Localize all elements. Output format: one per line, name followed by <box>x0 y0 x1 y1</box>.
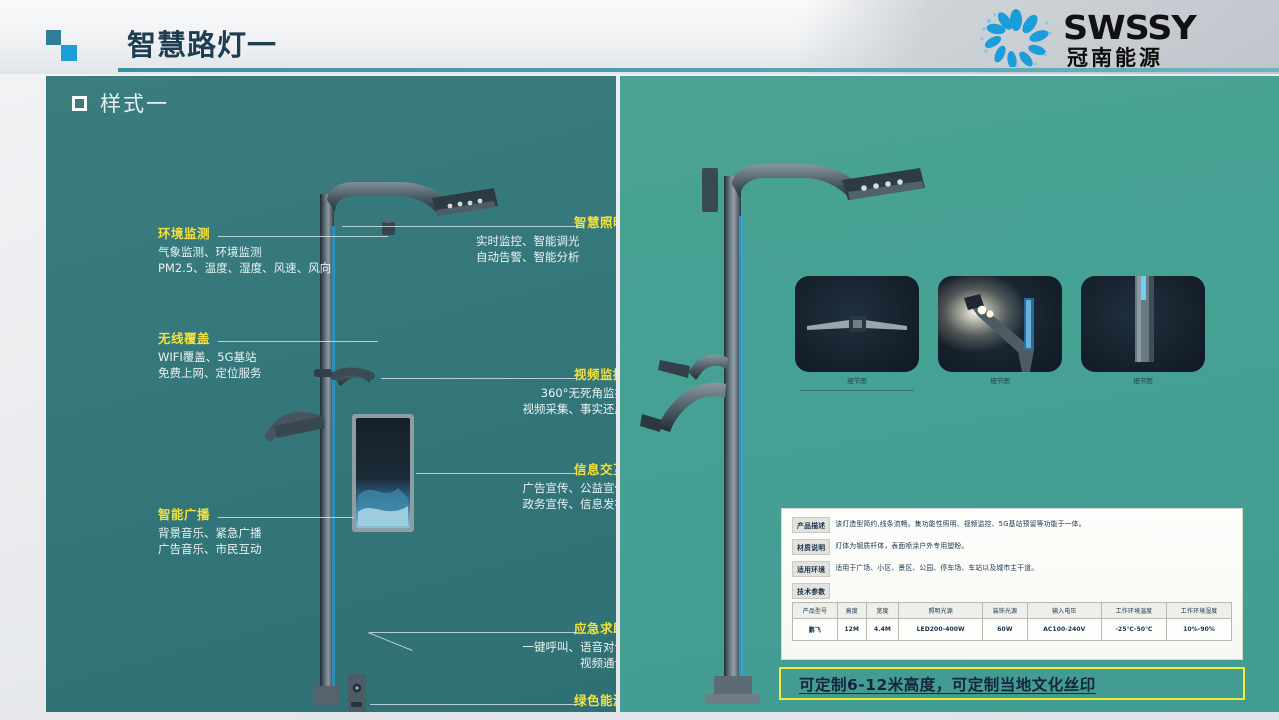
leader-line <box>381 378 577 379</box>
table-cell: 鹏飞 <box>793 619 838 641</box>
spec-label: 适用环境 <box>792 561 830 577</box>
leader-line <box>218 236 388 237</box>
annotation-line: 自动告警、智能分析 <box>476 249 616 265</box>
annotation-line: 视频采集、事实还原 <box>471 401 616 417</box>
thumbnail-caption-2: 细节图 <box>938 375 1062 385</box>
table-row: 鹏飞 12M 4.4M LED200-400W 60W AC100-240V -… <box>793 619 1232 641</box>
spec-row: 适用环境 适用于广场、小区、景区、公园、停车场、车站以及城市主干道。 <box>792 561 1232 577</box>
spec-text: 灯体为钢质杆体，表面喷涂户外专用塑粉。 <box>835 539 968 552</box>
technical-parameters-table: 产品型号 高度 宽度 照明光源 装饰光源 输入电压 工作环境温度 工作环境湿度 … <box>792 602 1232 641</box>
table-header-cell: 宽度 <box>866 603 899 619</box>
annotation-line: PM2.5、温度、湿度、风速、风向 <box>158 260 331 276</box>
spec-row: 材质说明 灯体为钢质杆体，表面喷涂户外专用塑粉。 <box>792 539 1232 555</box>
table-header-cell: 工作环境湿度 <box>1167 603 1232 619</box>
thumbnail-caption-1: 细节图 <box>795 375 919 385</box>
table-header-row: 产品型号 高度 宽度 照明光源 装饰光源 输入电压 工作环境温度 工作环境湿度 <box>793 603 1232 619</box>
annotation-heading: 信息交互 <box>471 459 616 478</box>
water-droplet-flower-icon <box>977 9 1055 67</box>
title-squares-icon <box>46 30 82 62</box>
table-cell: LED200-400W <box>899 619 983 641</box>
annotation-line: WIFI覆盖、5G基站 <box>158 349 262 365</box>
right-content-panel: 细节图 细节图 细节图 <box>620 76 1279 712</box>
annotation-line: 一键呼叫、语音对讲 <box>471 639 616 655</box>
lamp-arm-detail-icon <box>795 276 919 372</box>
thumbnail-caption-underline <box>800 390 914 391</box>
leader-line <box>218 341 378 342</box>
table-cell: -25℃-50℃ <box>1101 619 1166 641</box>
spec-text: 适用于广场、小区、景区、公园、停车场、车站以及城市主干道。 <box>835 561 1038 574</box>
annotation-heading: 智慧照明 <box>476 212 616 231</box>
annotation-heading: 视频监控 <box>471 364 616 383</box>
annotation-smart-broadcast: 智能广播 背景音乐、紧急广播 广告音乐、市民互动 <box>158 504 262 557</box>
annotation-line: 广告音乐、市民互动 <box>158 541 262 557</box>
thumbnail-detail-2[interactable] <box>938 276 1062 372</box>
title-square-dark-icon <box>46 30 61 45</box>
annotation-line: 汽车充电 <box>471 711 616 712</box>
annotation-environment-monitoring: 环境监测 气象监测、环境监测 PM2.5、温度、湿度、风速、风向 <box>158 223 331 276</box>
annotation-emergency-help: 应急求助 一键呼叫、语音对讲 视频通话 <box>471 618 616 671</box>
annotation-heading: 智能广播 <box>158 504 262 523</box>
customization-banner: 可定制6-12米高度，可定制当地文化丝印 <box>779 667 1245 700</box>
thumbnail-detail-1[interactable] <box>795 276 919 372</box>
table-header-cell: 产品型号 <box>793 603 838 619</box>
table-cell: AC100-240V <box>1027 619 1101 641</box>
annotation-line: 广告宣传、公益宣传 <box>471 480 616 496</box>
thumbnail-detail-3[interactable] <box>1081 276 1205 372</box>
leader-line <box>416 473 577 474</box>
table-cell: 12M <box>837 619 866 641</box>
annotation-line: 免费上网、定位服务 <box>158 365 262 381</box>
annotation-video-surveillance: 视频监控 360°无死角监控 视频采集、事实还原 <box>471 364 616 417</box>
spec-label: 材质说明 <box>792 539 830 555</box>
spec-label: 技术参数 <box>792 583 830 599</box>
left-content-panel: 样式一 <box>46 76 616 712</box>
leader-line <box>218 517 354 518</box>
customization-banner-text: 可定制6-12米高度，可定制当地文化丝印 <box>799 673 1096 695</box>
spec-row: 技术参数 <box>792 583 1232 599</box>
annotation-line: 实时监控、智能调光 <box>476 233 616 249</box>
lamp-head-lit-detail-icon <box>938 276 1062 372</box>
spec-text: 该灯造型简约,线条流畅。集功能性照明、视频监控、5G基站预留等功能于一体。 <box>835 517 1085 530</box>
page-header: 智慧路灯一 SWSSY <box>0 0 1279 74</box>
thumbnail-caption-3: 细节图 <box>1081 375 1205 385</box>
annotation-line: 360°无死角监控 <box>471 385 616 401</box>
annotation-heading: 绿色能源 <box>471 690 616 709</box>
annotation-information-interaction: 信息交互 广告宣传、公益宣传 政务宣传、信息发布 <box>471 459 616 512</box>
table-header-cell: 装饰光源 <box>983 603 1028 619</box>
annotation-green-energy: 绿色能源 汽车充电 手机充电 <box>471 690 616 712</box>
annotation-smart-lighting: 智慧照明 实时监控、智能调光 自动告警、智能分析 <box>476 212 616 265</box>
page-title: 智慧路灯一 <box>127 22 277 64</box>
brand-subtitle: 冠南能源 <box>1067 42 1163 72</box>
brand-logo: SWSSY 冠南能源 <box>963 5 1263 71</box>
table-cell: 10%-90% <box>1167 619 1232 641</box>
title-square-blue-icon <box>61 45 77 61</box>
table-header-cell: 高度 <box>837 603 866 619</box>
table-cell: 4.4M <box>866 619 899 641</box>
table-header-cell: 照明光源 <box>899 603 983 619</box>
spec-row: 产品描述 该灯造型简约,线条流畅。集功能性照明、视频监控、5G基站预留等功能于一… <box>792 517 1232 533</box>
table-cell: 60W <box>983 619 1028 641</box>
spec-label: 产品描述 <box>792 517 830 533</box>
annotation-wireless-coverage: 无线覆盖 WIFI覆盖、5G基站 免费上网、定位服务 <box>158 328 262 381</box>
annotation-line: 政务宣传、信息发布 <box>471 496 616 512</box>
annotation-heading: 应急求助 <box>471 618 616 637</box>
annotation-heading: 环境监测 <box>158 223 331 242</box>
annotation-line: 背景音乐、紧急广播 <box>158 525 262 541</box>
table-header-cell: 工作环境温度 <box>1101 603 1166 619</box>
table-header-cell: 输入电压 <box>1027 603 1101 619</box>
leader-line <box>342 226 578 227</box>
annotation-line: 气象监测、环境监测 <box>158 244 331 260</box>
leader-line <box>370 632 577 633</box>
specification-card: 产品描述 该灯造型简约,线条流畅。集功能性照明、视频监控、5G基站预留等功能于一… <box>781 508 1243 660</box>
pole-section-detail-icon <box>1081 276 1205 372</box>
leader-line <box>370 704 577 705</box>
annotation-line: 视频通话 <box>471 655 616 671</box>
annotation-heading: 无线覆盖 <box>158 328 262 347</box>
